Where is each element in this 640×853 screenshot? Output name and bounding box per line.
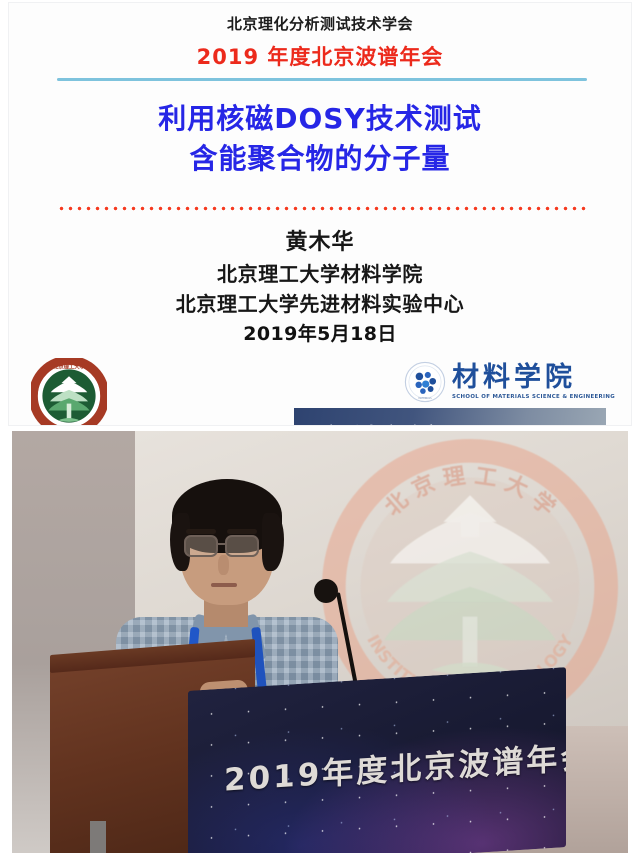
title-line-2: 含能聚合物的分子量 [9, 139, 631, 179]
materials-school-en-label: SCHOOL OF MATERIALS SCIENCE & ENGINEERIN… [452, 394, 615, 400]
lab-banner-bar: 国家重点实验室 [294, 408, 606, 426]
molecule-cluster-emblem-icon: MATERIALS [404, 361, 446, 403]
presentation-date: 2019年5月18日 [9, 320, 631, 349]
title-slide: 北京理化分析测试技术学会 2019 年度北京波谱年会 利用核磁DOSY技术测试 … [8, 2, 632, 426]
title-line-1: 利用核磁DOSY技术测试 [9, 99, 631, 139]
blue-divider-rule [57, 78, 587, 81]
svg-text:MATERIALS: MATERIALS [418, 397, 432, 400]
conference-name: 2019 年度北京波谱年会 [9, 41, 631, 71]
microphone-head-icon [314, 579, 338, 603]
speaker-mouth [211, 583, 237, 587]
author-and-affiliation-block: 黄木华 北京理工大学材料学院 北京理工大学先进材料实验中心 2019年5月18日 [9, 226, 631, 348]
eyeglasses-bridge [218, 543, 225, 545]
lab-banner-text: 国家重点实验室 [302, 420, 442, 426]
affiliation-2: 北京理工大学先进材料实验中心 [9, 289, 631, 319]
speaker-nose [218, 555, 229, 575]
author-name: 黄木华 [9, 226, 631, 259]
speaker-eyebrow-right [227, 529, 257, 534]
presentation-title: 利用核磁DOSY技术测试 含能聚合物的分子量 [9, 99, 631, 179]
presentation-slide-and-photo-page: 北京理化分析测试技术学会 2019 年度北京波谱年会 利用核磁DOSY技术测试 … [0, 0, 640, 853]
eyeglasses-lens-right [225, 535, 259, 557]
red-dotted-divider [57, 206, 587, 211]
materials-school-logo: MATERIALS 材料学院 SCHOOL OF MATERIALS SCIEN… [404, 361, 615, 403]
organization-line: 北京理化分析测试技术学会 [9, 13, 631, 34]
conference-photo: 北 京 理 工 大 学 INSTITUTE OF TECHNOLOGY [12, 431, 628, 853]
speaker-eyebrow-left [186, 529, 216, 534]
bit-university-seal-icon: 北京理工大学 BEIJING INSTITUTE [31, 358, 107, 426]
podium-leg [90, 821, 106, 853]
affiliation-1: 北京理工大学材料学院 [9, 259, 631, 289]
eyeglasses-lens-left [184, 535, 218, 557]
materials-school-cn-label: 材料学院 [452, 364, 615, 392]
podium-banner-panel: 2019年度北京波谱年会 [188, 667, 566, 853]
